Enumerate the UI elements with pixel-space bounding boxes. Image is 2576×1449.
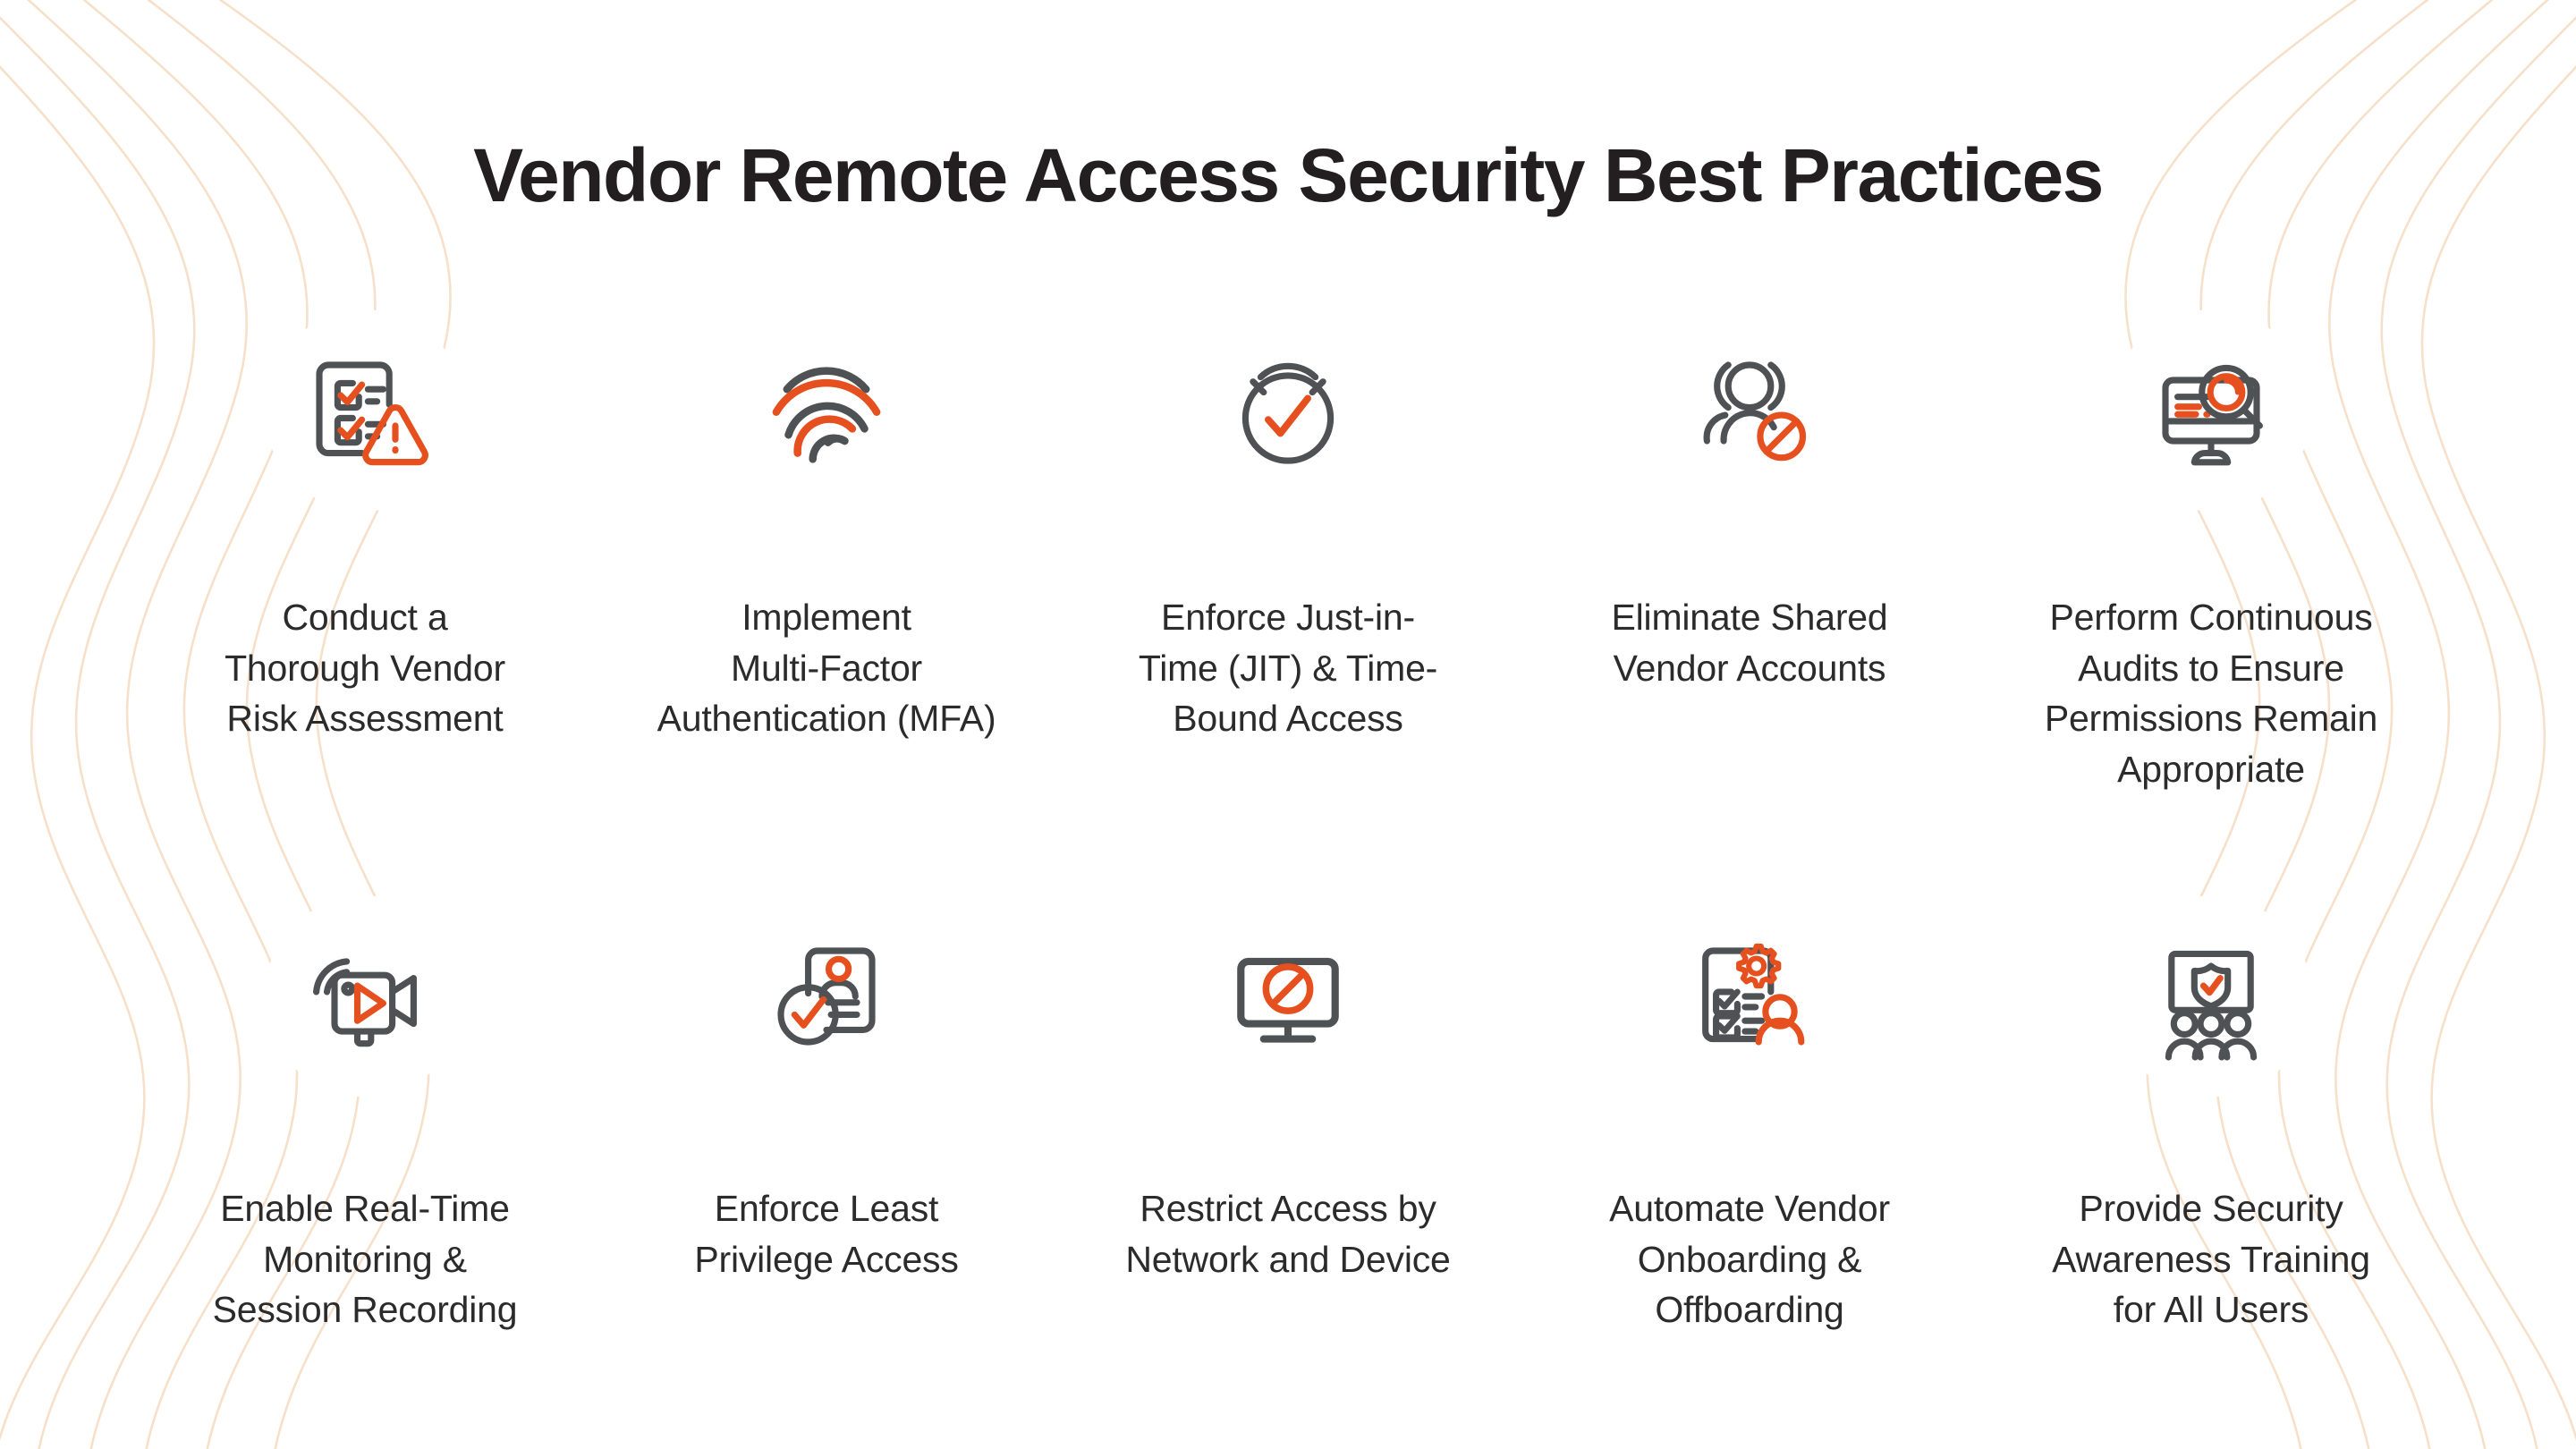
icon-ring-2: [684, 268, 969, 553]
stopwatch-check-icon: [1212, 335, 1364, 487]
practice-card-3[interactable]: Enforce Just-in- Time (JIT) & Time- Boun…: [1057, 268, 1519, 794]
practice-label-4: Eliminate Shared Vendor Accounts: [1519, 592, 1980, 693]
icon-ring-8: [1146, 854, 1430, 1139]
practice-label-9: Automate Vendor Onboarding & Offboarding: [1519, 1183, 1980, 1335]
fingerprint-icon: [750, 335, 902, 487]
practice-card-6[interactable]: Enable Real-Time Monitoring & Session Re…: [134, 854, 596, 1335]
monitor-blocked-icon: [1212, 920, 1364, 1072]
page-title: Vendor Remote Access Security Best Pract…: [0, 136, 2576, 215]
practice-card-10[interactable]: Provide Security Awareness Training for …: [1980, 854, 2442, 1335]
checklist-gear-user-icon: [1674, 920, 1826, 1072]
icon-ring-9: [1607, 854, 1892, 1139]
practice-row-2: Enable Real-Time Monitoring & Session Re…: [134, 854, 2442, 1335]
icon-ring-3: [1146, 268, 1430, 553]
practice-label-10: Provide Security Awareness Training for …: [1980, 1183, 2442, 1335]
practice-card-7[interactable]: Enforce Least Privilege Access: [596, 854, 1057, 1335]
practice-label-5: Perform Continuous Audits to Ensure Perm…: [1980, 592, 2442, 794]
icon-ring-7: [684, 854, 969, 1139]
id-document-verified-icon: [750, 920, 902, 1072]
infographic-stage: Vendor Remote Access Security Best Pract…: [0, 0, 2576, 1449]
practice-row-1: Conduct a Thorough Vendor Risk Assessmen…: [134, 268, 2442, 794]
practice-label-2: Implement Multi-Factor Authentication (M…: [596, 592, 1057, 744]
icon-ring-4: [1607, 268, 1892, 553]
icon-ring-6: [223, 854, 507, 1139]
clipboard-checklist-warning-icon: [289, 335, 441, 487]
practice-card-2[interactable]: Implement Multi-Factor Authentication (M…: [596, 268, 1057, 794]
training-shield-audience-icon: [2135, 920, 2287, 1072]
practice-label-8: Restrict Access by Network and Device: [1057, 1183, 1519, 1284]
practice-label-3: Enforce Just-in- Time (JIT) & Time- Boun…: [1057, 592, 1519, 744]
icon-ring-10: [2069, 854, 2353, 1139]
monitor-magnifier-audit-icon: [2135, 335, 2287, 487]
practice-card-1[interactable]: Conduct a Thorough Vendor Risk Assessmen…: [134, 268, 596, 794]
practice-card-8[interactable]: Restrict Access by Network and Device: [1057, 854, 1519, 1335]
video-camera-signal-icon: [289, 920, 441, 1072]
users-blocked-icon: [1674, 335, 1826, 487]
icon-ring-1: [223, 268, 507, 553]
practice-label-7: Enforce Least Privilege Access: [596, 1183, 1057, 1284]
practice-card-4[interactable]: Eliminate Shared Vendor Accounts: [1519, 268, 1980, 794]
practice-card-5[interactable]: Perform Continuous Audits to Ensure Perm…: [1980, 268, 2442, 794]
icon-ring-5: [2069, 268, 2353, 553]
practice-label-6: Enable Real-Time Monitoring & Session Re…: [134, 1183, 596, 1335]
practice-card-9[interactable]: Automate Vendor Onboarding & Offboarding: [1519, 854, 1980, 1335]
practice-label-1: Conduct a Thorough Vendor Risk Assessmen…: [134, 592, 596, 744]
